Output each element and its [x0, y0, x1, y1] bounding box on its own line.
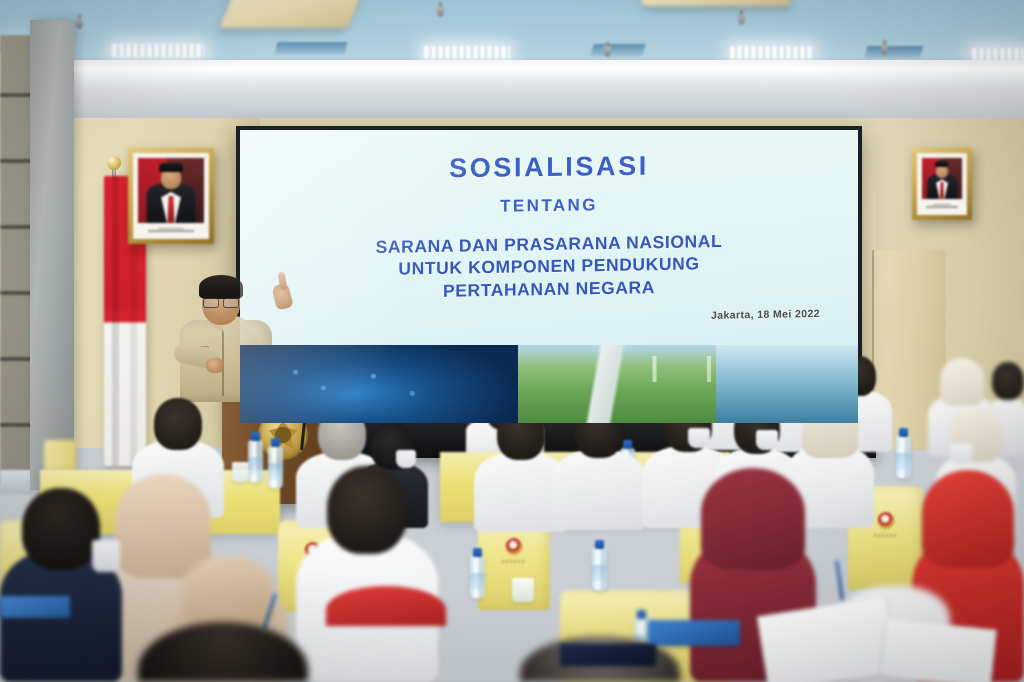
portrait-caption	[138, 223, 204, 234]
water-bottle[interactable]	[268, 446, 283, 488]
drinking-glass[interactable]	[512, 578, 534, 602]
chair-emblem-caption	[502, 560, 526, 563]
chair-emblem-caption	[874, 534, 898, 537]
water-bottle[interactable]	[896, 436, 911, 478]
sprinkler-head-icon	[881, 44, 888, 55]
sprinkler-head-icon	[604, 46, 611, 57]
light-panel-icon	[112, 44, 204, 57]
list-item	[552, 406, 646, 530]
list-item	[0, 488, 122, 682]
chair-emblem-icon	[506, 538, 523, 555]
blue-folder[interactable]	[648, 620, 740, 646]
projection-screen: SOSIALISASI TENTANG SARANA DAN PRASARANA…	[236, 126, 862, 426]
sprinkler-head-icon	[437, 6, 444, 17]
eyeglasses-icon	[203, 296, 239, 304]
light-panel-icon	[730, 46, 814, 59]
slide-footer-images	[240, 345, 858, 423]
globe-network-image	[240, 345, 518, 423]
slide-subheading: TENTANG	[240, 192, 858, 220]
port-terminal-image	[716, 345, 858, 423]
chair-emblem-icon	[878, 512, 895, 529]
air-vent-icon	[865, 46, 924, 58]
structural-pillar	[30, 20, 74, 490]
notebook[interactable]	[560, 644, 656, 666]
slide-content: SOSIALISASI TENTANG SARANA DAN PRASARANA…	[240, 130, 858, 423]
paper-sheet[interactable]	[881, 618, 996, 682]
drinking-glass[interactable]	[232, 462, 249, 482]
ceiling-soffit	[0, 92, 1024, 118]
projector-mount	[220, 0, 365, 28]
slide-dateline: Jakarta, 18 Mei 2022	[240, 308, 820, 330]
sprinkler-head-icon	[76, 18, 83, 29]
conference-room-photo: SOSIALISASI TENTANG SARANA DAN PRASARANA…	[0, 0, 1024, 682]
blue-folder[interactable]	[0, 596, 70, 618]
sprinkler-head-icon	[738, 14, 745, 25]
water-bottle[interactable]	[248, 440, 263, 482]
air-vent-icon	[275, 42, 348, 54]
portrait-caption	[922, 199, 962, 210]
vice-president-portrait	[912, 148, 972, 220]
window-blind[interactable]	[0, 35, 34, 485]
water-bottle[interactable]	[592, 548, 607, 590]
water-bottle[interactable]	[470, 556, 485, 598]
collar-accent	[326, 560, 446, 626]
slide-text-block: SOSIALISASI TENTANG SARANA DAN PRASARANA…	[240, 130, 858, 325]
ceiling-duct	[637, 0, 790, 6]
slide-heading: SOSIALISASI	[240, 150, 858, 185]
air-vent-icon	[591, 44, 646, 56]
list-item	[138, 622, 308, 682]
president-portrait	[128, 148, 214, 244]
flag-finial-icon	[107, 156, 121, 170]
light-panel-icon	[424, 46, 510, 59]
